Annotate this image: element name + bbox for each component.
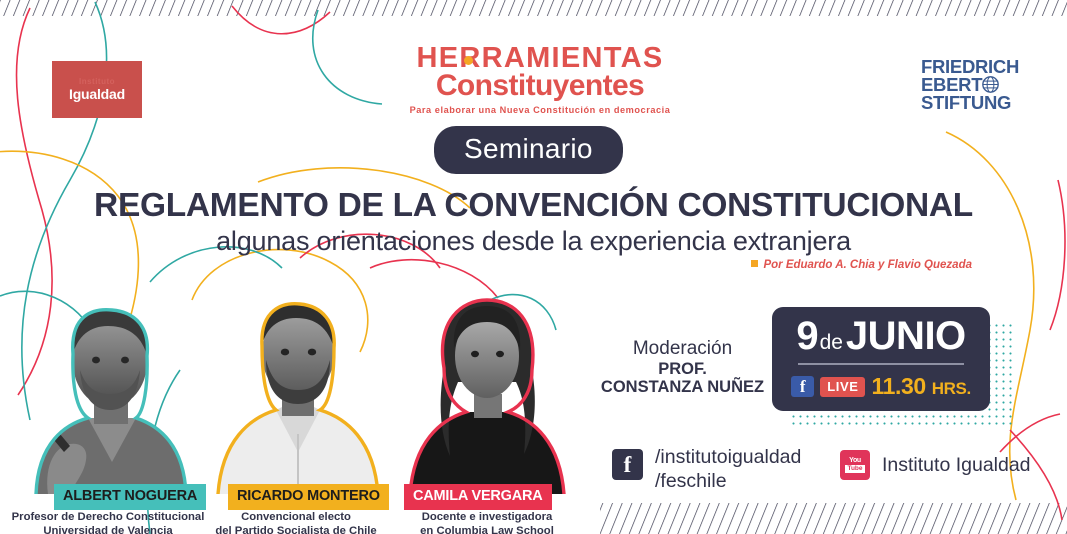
speaker-card-camila-vergara: CAMILA VERGARA Docente e investigadora e… — [392, 284, 582, 534]
facebook-handle-1[interactable]: /institutoigualdad — [655, 446, 801, 470]
moderation-name: CONSTANZA NUÑEZ — [590, 378, 775, 396]
hc-line2: Constituyentes — [408, 71, 672, 101]
fes-line2: EBERT — [921, 76, 1021, 94]
speaker-name: RICARDO MONTERO — [237, 488, 380, 504]
youtube-glyph-bottom: Tube — [845, 465, 864, 473]
speaker-card-albert-noguera: ALBERT NOGUERA Profesor de Derecho Const… — [8, 284, 208, 534]
social-youtube[interactable]: You Tube Instituto Igualdad — [840, 450, 1031, 480]
spark-dot-icon — [464, 56, 473, 65]
event-day: 9 — [796, 314, 817, 358]
byline: Por Eduardo A. Chia y Flavio Quezada — [0, 259, 1067, 271]
hc-tagline: Para elaborar una Nueva Constitución en … — [408, 105, 672, 115]
youtube-channel-label: Instituto Igualdad — [882, 454, 1031, 477]
herramientas-constituyentes-logo: HERRAMIENTAS Constituyentes Para elabora… — [408, 44, 672, 115]
speaker-role-camila-vergara: Docente e investigadora en Columbia Law … — [384, 510, 590, 534]
event-connector: de — [820, 331, 843, 354]
speaker-photo-albert-noguera — [8, 284, 208, 494]
speaker-role-line1: Convencional electo — [188, 510, 404, 524]
poster-canvas: Instituto Igualdad HERRAMIENTAS Constitu… — [0, 0, 1067, 534]
speaker-photo-camila-vergara — [392, 284, 582, 494]
facebook-handle-2[interactable]: /feschile — [655, 470, 801, 494]
fes-line3: STIFTUNG — [921, 94, 1021, 112]
facebook-icon[interactable]: f — [612, 449, 643, 480]
event-time: 11.30 HRS. — [871, 373, 970, 400]
speaker-name-tag-ricardo-montero: RICARDO MONTERO — [228, 484, 389, 510]
speaker-role-line1: Profesor de Derecho Constitucional — [0, 510, 216, 524]
facebook-icon[interactable]: f — [791, 376, 814, 397]
social-facebook[interactable]: f /institutoigualdad /feschile — [612, 446, 801, 494]
seminario-badge: Seminario — [434, 126, 623, 174]
moderation-label: Moderación — [590, 338, 775, 360]
igualdad-logo: Instituto Igualdad — [52, 61, 142, 118]
bullet-square-icon — [751, 260, 758, 267]
hc-line1: HERRAMIENTAS — [408, 44, 672, 73]
event-time-value: 11.30 — [871, 373, 925, 399]
igualdad-pre-label: Instituto — [79, 78, 115, 86]
event-date-line: 9deJUNIO — [772, 316, 990, 356]
page-subtitle: algunas orientaciones desde la experienc… — [0, 226, 1067, 257]
speaker-role-line2: del Partido Socialista de Chile — [188, 524, 404, 534]
facebook-glyph: f — [791, 376, 814, 397]
byline-text: Por Eduardo A. Chia y Flavio Quezada — [763, 259, 972, 271]
speaker-name: ALBERT NOGUERA — [63, 488, 197, 504]
moderation-block: Moderación PROF. CONSTANZA NUÑEZ — [590, 338, 775, 396]
youtube-icon[interactable]: You Tube — [840, 450, 870, 480]
globe-icon — [982, 76, 999, 93]
moderation-title: PROF. — [590, 360, 775, 378]
speaker-role-albert-noguera: Profesor de Derecho Constitucional Unive… — [0, 510, 216, 534]
page-title: REGLAMENTO DE LA CONVENCIÓN CONSTITUCION… — [0, 189, 1067, 223]
speaker-role-line2: en Columbia Law School — [384, 524, 590, 534]
igualdad-label: Igualdad — [69, 87, 125, 101]
live-badge: LIVE — [820, 377, 865, 397]
youtube-glyph-top: You — [849, 457, 861, 464]
event-date-box: 9deJUNIO f LIVE 11.30 HRS. — [772, 307, 990, 411]
friedrich-ebert-stiftung-logo: FRIEDRICH EBERT STIFTUNG — [921, 58, 1021, 111]
speaker-card-ricardo-montero: RICARDO MONTERO Convencional electo del … — [196, 284, 396, 534]
speaker-name-tag-albert-noguera: ALBERT NOGUERA — [54, 484, 206, 510]
speaker-name: CAMILA VERGARA — [413, 488, 543, 504]
speaker-photo-ricardo-montero — [196, 284, 396, 494]
divider — [798, 363, 964, 365]
facebook-glyph: f — [612, 449, 643, 480]
speaker-name-tag-camila-vergara: CAMILA VERGARA — [404, 484, 552, 510]
event-time-line: f LIVE 11.30 HRS. — [772, 373, 990, 400]
speaker-role-ricardo-montero: Convencional electo del Partido Socialis… — [188, 510, 404, 534]
speaker-role-line2: Universidad de Valencia — [0, 524, 216, 534]
event-month: JUNIO — [846, 314, 966, 358]
facebook-handles: /institutoigualdad /feschile — [655, 446, 801, 494]
hc-line1-text: HERRAMIENTAS — [416, 42, 663, 74]
speaker-role-line1: Docente e investigadora — [384, 510, 590, 524]
event-time-unit: HRS. — [932, 379, 971, 398]
